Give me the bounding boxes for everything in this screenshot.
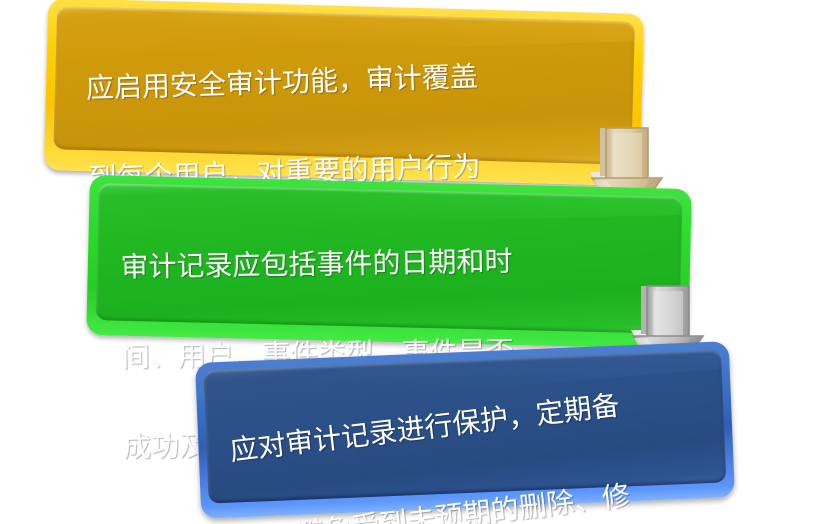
- slide-canvas: 应启用安全审计功能，审计覆盖 到每个用户，对重要的用户行为 和重要安全事件进行审…: [0, 0, 816, 524]
- callout-box-green[interactable]: 审计记录应包括事件的日期和时 间、用户、事件类型、事件是否 成功及其他与审计相关…: [86, 175, 692, 349]
- callout-box-blue-line-2: 份，避免受到未预期的删除、修: [239, 482, 632, 524]
- callout-box-green-line-1: 审计记录应包括事件的日期和时: [120, 248, 512, 282]
- callout-box-blue-line-1: 应对审计记录进行保护，定期备: [228, 391, 621, 465]
- callout-box-blue[interactable]: 应对审计记录进行保护，定期备 份，避免受到未预期的删除、修 改或覆盖等: [195, 341, 735, 519]
- callout-box-gold[interactable]: 应启用安全审计功能，审计覆盖 到每个用户，对重要的用户行为 和重要安全事件进行审…: [44, 0, 644, 186]
- callout-box-gold-line-1: 应启用安全审计功能，审计覆盖: [86, 63, 479, 103]
